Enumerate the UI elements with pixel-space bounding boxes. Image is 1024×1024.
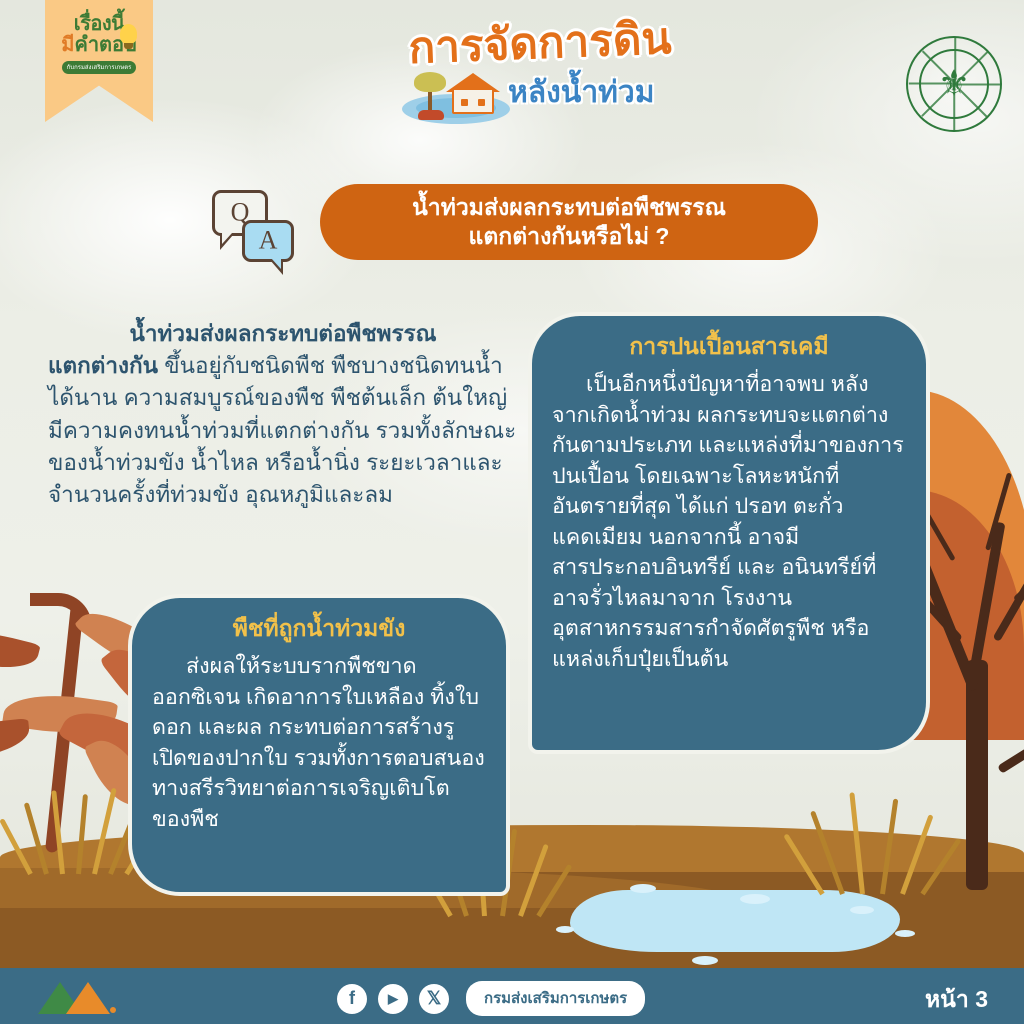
water-droplet — [692, 956, 718, 965]
infographic-page: เรื่องนี้ มีคำตอบ กับกรมส่งเสริมการเกษตร… — [0, 0, 1024, 1024]
flooded-house-icon — [402, 68, 512, 126]
qa-speech-bubbles-icon: Q A — [212, 190, 298, 266]
facebook-icon[interactable]: f — [337, 984, 367, 1014]
question-line-1: น้ำท่วมส่งผลกระทบต่อพืชพรรณ — [412, 193, 726, 222]
department-name: กรมส่งเสริมการเกษตร — [466, 981, 645, 1016]
x-twitter-icon[interactable]: 𝕏 — [419, 984, 449, 1014]
page-number: หน้า 3 — [925, 982, 988, 1018]
page-subtitle: หลังน้ำท่วม — [508, 78, 655, 108]
lightbulb-icon — [120, 24, 137, 44]
title-block: การจัดการดิน หลังน้ำท่วม — [390, 22, 690, 124]
doae-mountain-logo — [38, 980, 114, 1014]
answer-letter: A — [245, 225, 291, 255]
card-waterlogged-plants: พืชที่ถูกน้ำท่วมขัง ส่งผลให้ระบบรากพืชขา… — [128, 594, 510, 896]
card-title: พืชที่ถูกน้ำท่วมขัง — [132, 598, 506, 651]
submerged-car-icon — [418, 110, 444, 120]
intro-bold-start: แตกต่างกัน — [48, 353, 158, 378]
card-title: การปนเปื้อนสารเคมี — [532, 316, 926, 369]
ribbon-subtitle: กับกรมส่งเสริมการเกษตร — [62, 61, 137, 74]
intro-paragraph: น้ำท่วมส่งผลกระทบต่อพืชพรรณแตกต่างกัน ขึ… — [48, 318, 518, 511]
water-droplet — [895, 930, 915, 937]
seal-emblem-glyph: ⚜ — [938, 65, 970, 101]
plant-leaf — [0, 718, 32, 762]
card-chemical-contamination: การปนเปื้อนสารเคมี เป็นอีกหนึ่งปัญหาที่อ… — [528, 312, 930, 754]
youtube-icon[interactable]: ▶ — [378, 984, 408, 1014]
card-body: เป็นอีกหนึ่งปัญหาที่อาจพบ หลังจากเกิดน้ำ… — [532, 369, 926, 674]
plant-leaf — [0, 622, 41, 678]
card-body-text: เป็นอีกหนึ่งปัญหาที่อาจพบ หลังจากเกิดน้ำ… — [552, 369, 906, 674]
government-seal-icon: ⚜ — [906, 36, 1002, 132]
water-droplet — [630, 884, 656, 893]
tree-trunk — [966, 660, 988, 890]
water-droplet — [850, 906, 874, 914]
water-puddle-secondary — [700, 912, 880, 952]
water-droplet — [556, 926, 574, 933]
intro-lead-line: น้ำท่วมส่งผลกระทบต่อพืชพรรณ — [48, 318, 518, 350]
social-links: f ▶ 𝕏 กรมส่งเสริมการเกษตร — [337, 981, 645, 1016]
card-body: ส่งผลให้ระบบรากพืชขาดออกซิเจน เกิดอาการใ… — [132, 651, 506, 834]
house-body-icon — [452, 88, 494, 114]
question-banner: น้ำท่วมส่งผลกระทบต่อพืชพรรณ แตกต่างกันหร… — [320, 184, 818, 260]
ribbon-line-2-accent: มี — [61, 34, 74, 56]
card-body-text: ส่งผลให้ระบบรากพืชขาดออกซิเจน เกิดอาการใ… — [152, 651, 486, 834]
answer-bubble-icon: A — [242, 220, 294, 262]
small-tree-foliage-icon — [414, 72, 446, 92]
question-line-2: แตกต่างกันหรือไม่ ? — [412, 222, 726, 251]
page-title: การจัดการดิน — [389, 16, 690, 71]
water-droplet — [740, 894, 770, 904]
footer-bar: f ▶ 𝕏 กรมส่งเสริมการเกษตร หน้า 3 — [0, 968, 1024, 1024]
question-text: น้ำท่วมส่งผลกระทบต่อพืชพรรณ แตกต่างกันหร… — [412, 193, 726, 252]
